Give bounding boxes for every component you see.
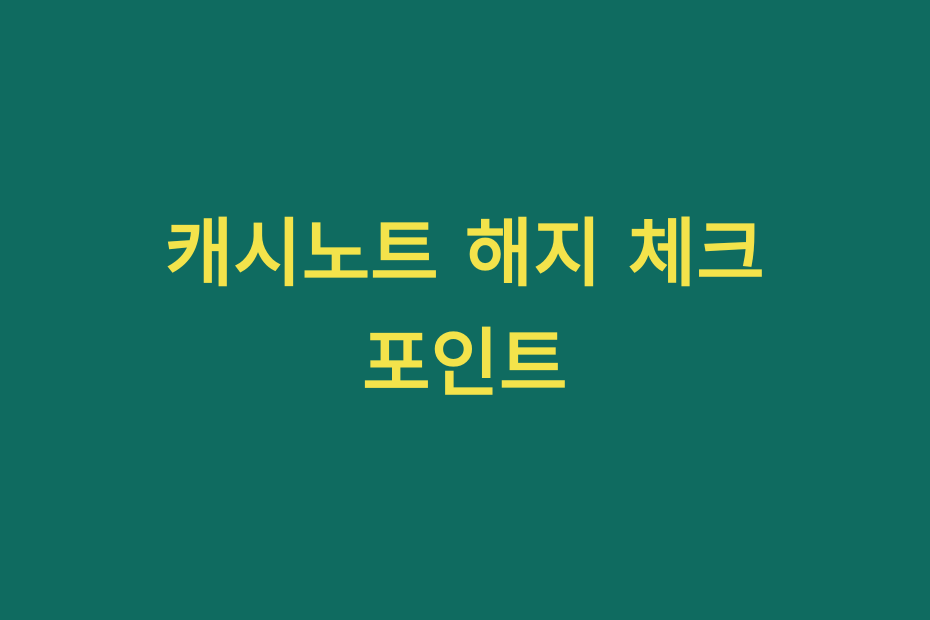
title-banner: 캐시노트 해지 체크 포인트 bbox=[0, 0, 930, 620]
banner-headline: 캐시노트 해지 체크 포인트 bbox=[64, 200, 866, 419]
headline-block: 캐시노트 해지 체크 포인트 bbox=[50, 200, 880, 419]
